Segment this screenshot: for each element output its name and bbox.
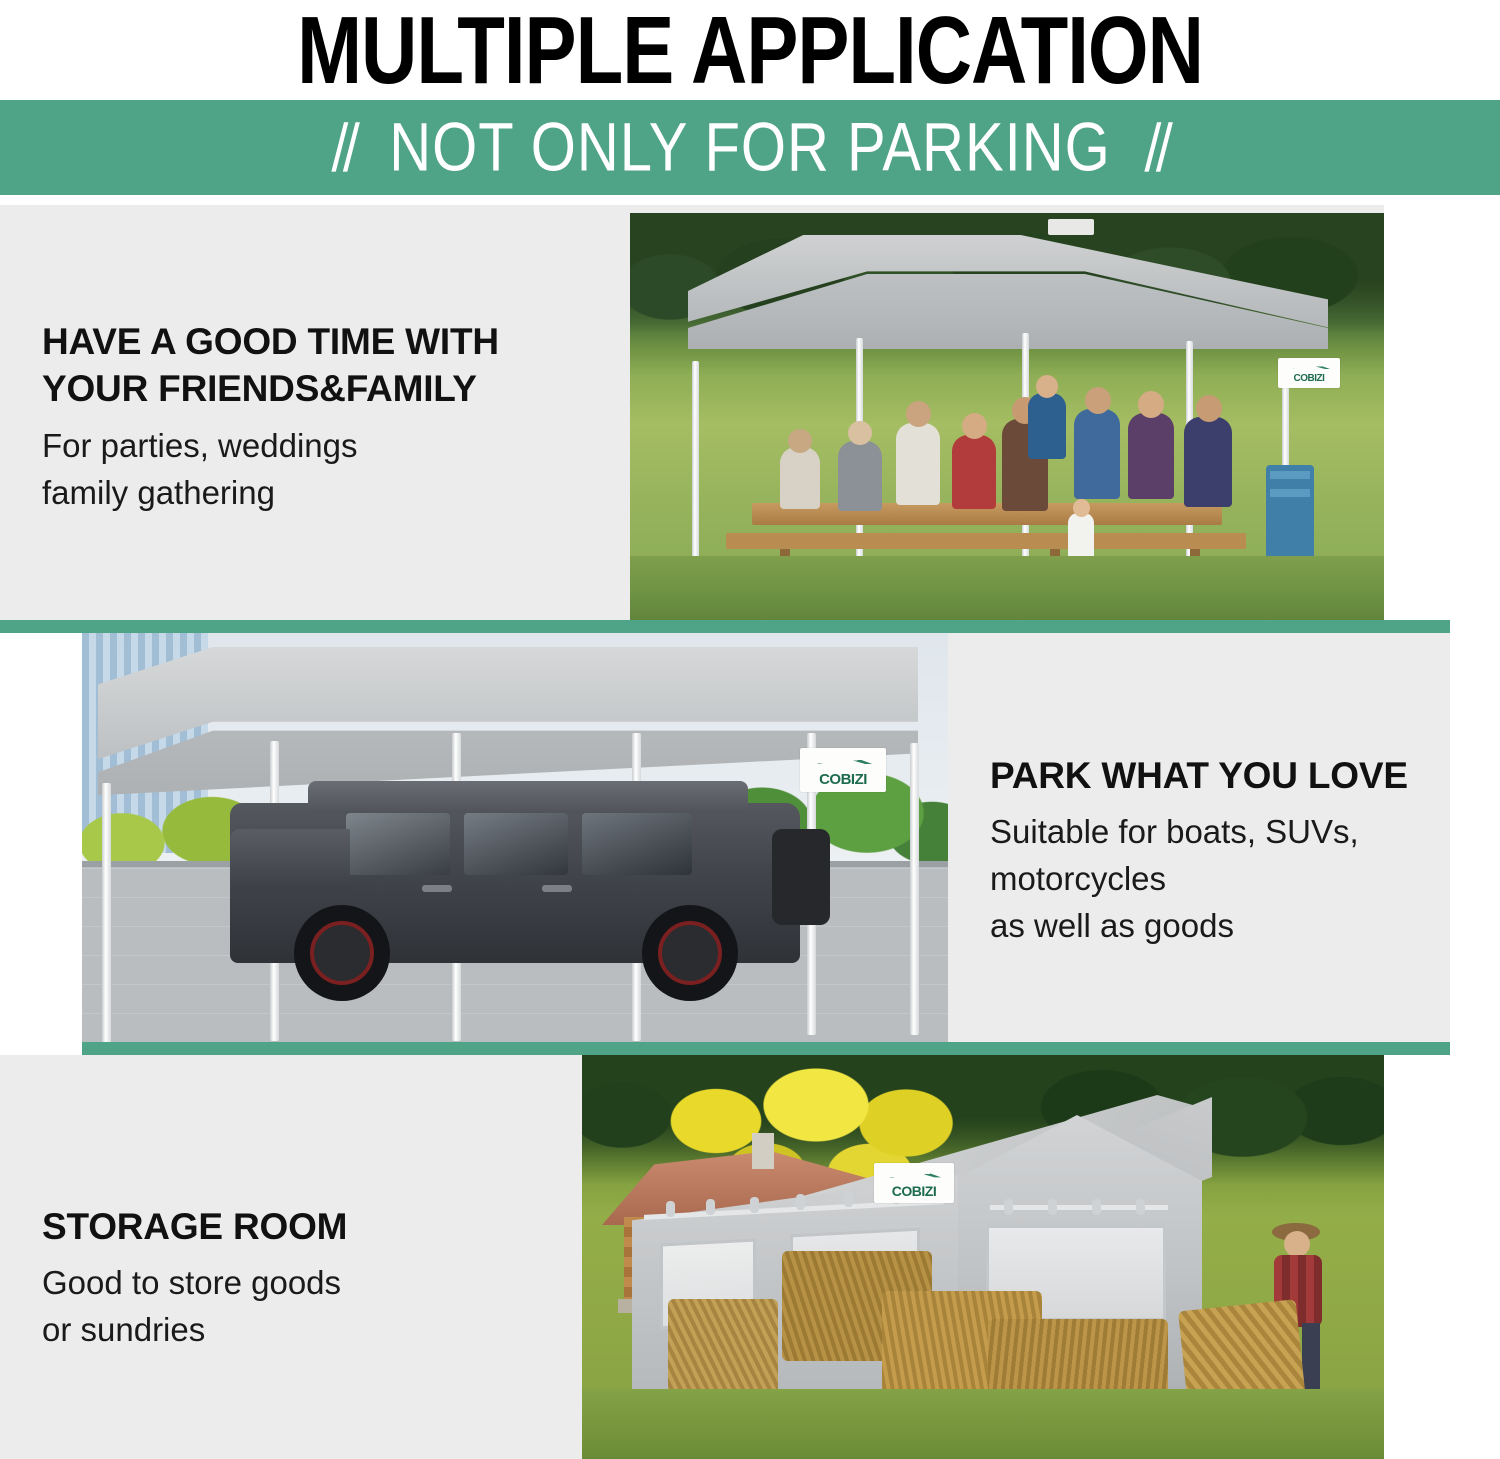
curtain-ring: [1048, 1199, 1057, 1215]
door-handle: [422, 885, 452, 892]
cobizi-logo: COBIZI: [800, 748, 886, 792]
page-title: MULTIPLE APPLICATION: [0, 0, 1500, 100]
person-head: [962, 413, 987, 439]
panel-park-what-you-love-body: Suitable for boats, SUVs, motorcycles as…: [990, 809, 1460, 950]
curtain-ring: [1136, 1199, 1145, 1215]
panel-friends-family-copy: HAVE A GOOD TIME WITH YOUR FRIENDS&FAMIL…: [42, 318, 602, 516]
cobizi-logo: COBIZI: [1278, 358, 1340, 388]
suv-roof: [308, 781, 748, 813]
curtain-ring: [796, 1194, 805, 1210]
chair-slat: [1270, 471, 1310, 479]
person-head: [1196, 395, 1222, 422]
canopy-leg: [102, 783, 111, 1042]
suv-spare-wheel: [772, 829, 830, 925]
person: [952, 435, 996, 509]
person-head: [1138, 391, 1164, 418]
curtain-ring: [666, 1201, 675, 1217]
foreground-grass: [630, 556, 1384, 620]
panel-storage-room-body: Good to store goods or sundries: [42, 1260, 562, 1354]
curtain-ring: [844, 1191, 853, 1207]
curtain-ring: [750, 1197, 759, 1213]
cobizi-roof-mark: [814, 753, 872, 771]
person: [1184, 417, 1232, 507]
foreground-grass: [582, 1389, 1384, 1459]
cobizi-wordmark: COBIZI: [819, 772, 867, 787]
divider-stripe-1: [0, 620, 1450, 633]
door-handle: [542, 885, 572, 892]
picnic-bench: [726, 533, 1246, 549]
person-head: [906, 401, 931, 427]
panel-friends-family-heading: HAVE A GOOD TIME WITH YOUR FRIENDS&FAMIL…: [42, 318, 602, 413]
panel-friends-family-image: COBIZI: [630, 213, 1384, 620]
wheel-rim: [310, 921, 374, 985]
panel-storage-room-heading: STORAGE ROOM: [42, 1203, 562, 1250]
curtain-ring: [1004, 1199, 1013, 1215]
person: [780, 447, 820, 509]
person: [1128, 413, 1174, 499]
suv-window: [346, 813, 450, 875]
subtitle-banner: // NOT ONLY FOR PARKING //: [0, 100, 1500, 195]
hay-bale: [668, 1299, 778, 1395]
background-vehicle: [1048, 219, 1094, 235]
suv-wheel: [642, 905, 738, 1001]
person-child: [1068, 513, 1094, 559]
cobizi-wordmark: COBIZI: [1294, 374, 1325, 384]
cobizi-logo: COBIZI: [874, 1163, 954, 1203]
panel-park-what-you-love-image: COBIZI: [82, 633, 948, 1042]
person-head: [788, 429, 812, 453]
cobizi-roof-mark: [887, 1168, 941, 1185]
panel-storage-room-image: COBIZI: [582, 1055, 1384, 1459]
person-head: [1085, 387, 1111, 414]
panel-park-what-you-love-heading: PARK WHAT YOU LOVE: [990, 752, 1460, 799]
person: [896, 423, 940, 505]
suv-window: [582, 813, 692, 875]
slash-left-icon: //: [331, 114, 356, 181]
curtain-ring: [706, 1199, 715, 1215]
slash-right-icon: //: [1144, 114, 1169, 181]
person-head: [1036, 375, 1058, 398]
person: [1028, 393, 1066, 459]
canopy-leg: [692, 361, 699, 576]
chair-slat: [1270, 489, 1310, 497]
panel-friends-family-body: For parties, weddings family gathering: [42, 423, 602, 517]
person-head: [1073, 499, 1090, 517]
panel-storage-room-copy: STORAGE ROOM Good to store goods or sund…: [42, 1203, 562, 1354]
wheel-rim: [658, 921, 722, 985]
farmer-head: [1284, 1231, 1310, 1257]
person-head: [848, 421, 872, 445]
chimney: [752, 1133, 774, 1169]
person: [838, 441, 882, 511]
suv-hood: [230, 829, 350, 891]
subtitle-text: NOT ONLY FOR PARKING: [389, 113, 1111, 181]
page-title-text: MULTIPLE APPLICATION: [297, 2, 1203, 97]
panel-park-what-you-love-copy: PARK WHAT YOU LOVE Suitable for boats, S…: [990, 752, 1460, 950]
cobizi-wordmark: COBIZI: [892, 1184, 936, 1198]
suv-wheel: [294, 905, 390, 1001]
curtain-ring: [1092, 1199, 1101, 1215]
person: [1074, 409, 1120, 499]
suv-window: [464, 813, 568, 875]
canopy-leg: [910, 743, 919, 1035]
blue-chair: [1266, 465, 1314, 561]
divider-stripe-2: [82, 1042, 1450, 1055]
